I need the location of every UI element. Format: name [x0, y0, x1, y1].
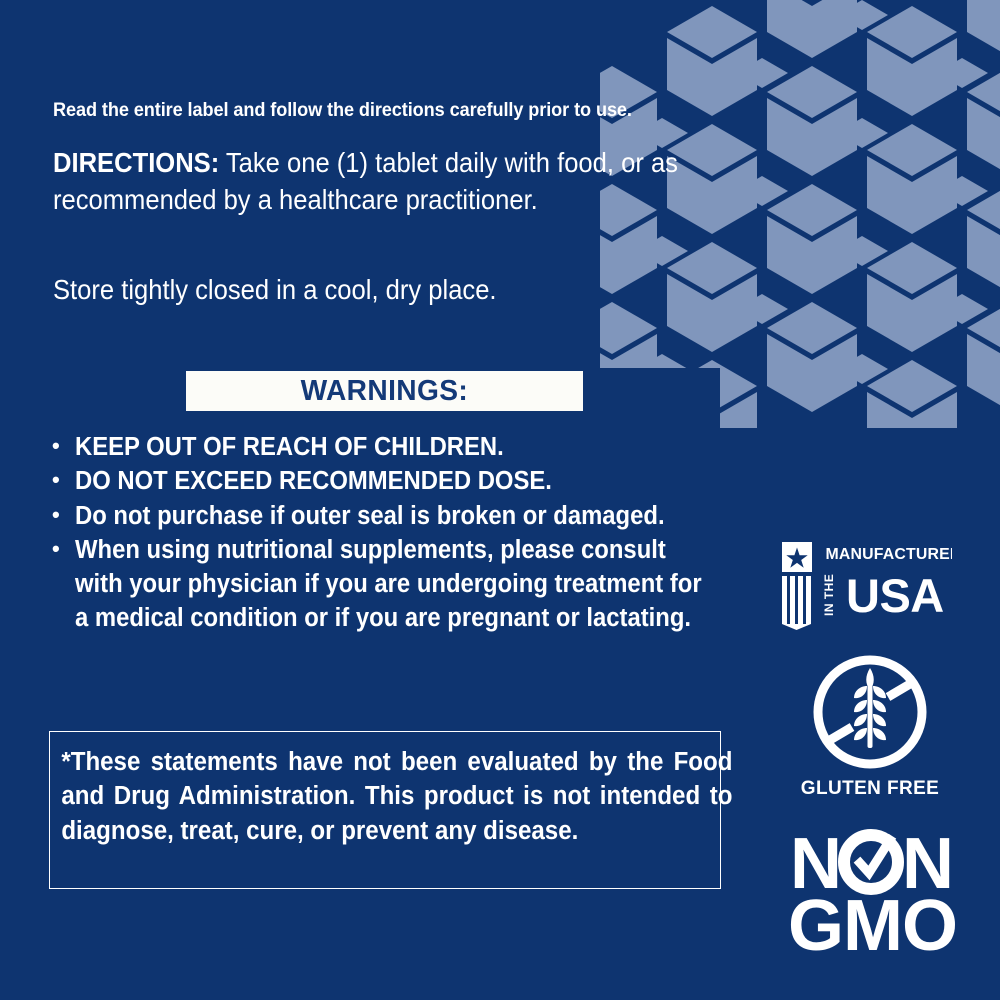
check-circle-icon [844, 835, 898, 889]
storage-instruction: Store tightly closed in a cool, dry plac… [53, 274, 497, 306]
warning-item-text: KEEP OUT OF REACH OF CHILDREN. [75, 430, 708, 464]
bullet-icon: • [52, 499, 75, 533]
warning-item: • DO NOT EXCEED RECOMMENDED DOSE. [52, 464, 752, 498]
fda-disclaimer-text: *These statements have not been evaluate… [50, 732, 744, 848]
directions-block: DIRECTIONS: Take one (1) tablet daily wi… [53, 144, 704, 219]
read-label-instruction: Read the entire label and follow the dir… [53, 99, 632, 122]
usa-flag-icon [782, 542, 812, 630]
certification-badges: MANUFACTURED IN THE USA [768, 0, 1000, 1000]
usa-vertical-text: IN THE [822, 574, 836, 616]
non-gmo-line2: GMO [788, 886, 957, 956]
manufactured-in-usa-badge: MANUFACTURED IN THE USA [780, 540, 952, 630]
gluten-free-icon [790, 652, 950, 780]
bullet-icon: • [52, 464, 75, 498]
warning-item: • KEEP OUT OF REACH OF CHILDREN. [52, 430, 752, 464]
warnings-list: • KEEP OUT OF REACH OF CHILDREN. • DO NO… [52, 430, 752, 636]
usa-line1-text: MANUFACTURED [826, 546, 952, 563]
warning-item-text: Do not purchase if outer seal is broken … [75, 499, 708, 533]
usa-line2-text: USA [846, 569, 944, 622]
warning-item-text: When using nutritional supplements, plea… [75, 533, 708, 636]
warnings-banner: WARNINGS: [186, 371, 583, 411]
bullet-icon: • [52, 533, 75, 636]
gluten-free-badge: GLUTEN FREE [790, 652, 950, 800]
warning-item: • When using nutritional supplements, pl… [52, 533, 752, 636]
supplement-label-panel: Read the entire label and follow the dir… [0, 0, 1000, 1000]
non-gmo-icon: N N GMO [778, 826, 964, 956]
warning-item: • Do not purchase if outer seal is broke… [52, 499, 752, 533]
directions-heading: DIRECTIONS: [53, 147, 219, 178]
warning-item-text: DO NOT EXCEED RECOMMENDED DOSE. [75, 464, 708, 498]
gluten-free-caption: GLUTEN FREE [790, 778, 950, 800]
bullet-icon: • [52, 430, 75, 464]
non-gmo-badge: N N GMO [778, 826, 964, 956]
fda-disclaimer-box: *These statements have not been evaluate… [49, 731, 721, 889]
warnings-banner-label: WARNINGS: [301, 375, 469, 408]
